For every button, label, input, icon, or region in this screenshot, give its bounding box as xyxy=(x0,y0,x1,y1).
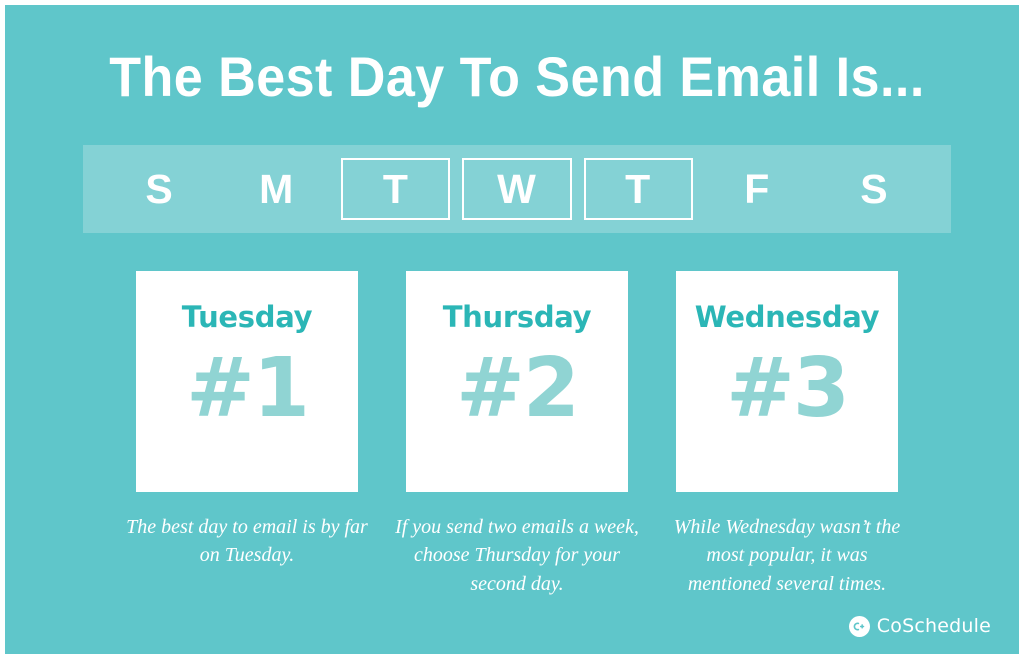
caption-list: The best day to email is by far on Tuesd… xyxy=(125,513,909,598)
day-letter: T xyxy=(383,169,409,210)
card-caption: While Wednesday wasn’t the most popular,… xyxy=(665,513,909,598)
week-strip: S M T W T F S xyxy=(83,145,951,233)
card-day-label: Tuesday xyxy=(182,303,312,332)
card-caption: If you send two emails a week, choose Th… xyxy=(395,513,639,598)
day-cell-sunday: S xyxy=(107,158,212,220)
day-letter: S xyxy=(145,169,173,210)
day-letter: F xyxy=(744,169,770,210)
day-cell-thursday: T xyxy=(584,158,693,220)
card-rank-label: #3 xyxy=(726,346,848,432)
card-rank-label: #1 xyxy=(186,346,308,432)
card-day-label: Wednesday xyxy=(695,303,880,332)
day-letter: M xyxy=(259,169,294,210)
day-cell-monday: M xyxy=(224,158,329,220)
card-day-label: Thursday xyxy=(443,303,592,332)
day-cell-friday: F xyxy=(705,158,810,220)
day-letter: T xyxy=(625,169,651,210)
day-cell-wednesday: W xyxy=(462,158,571,220)
card-rank-label: #2 xyxy=(456,346,578,432)
rank-card: Thursday #2 xyxy=(406,271,628,492)
day-cell-saturday: S xyxy=(822,158,927,220)
coschedule-wordmark: CoSchedule xyxy=(877,617,991,636)
rank-card-list: Tuesday #1 Thursday #2 Wednesday #3 xyxy=(136,271,898,492)
day-letter: S xyxy=(860,169,888,210)
coschedule-logo: CoSchedule xyxy=(849,616,991,637)
card-caption: The best day to email is by far on Tuesd… xyxy=(125,513,369,598)
rank-card: Tuesday #1 xyxy=(136,271,358,492)
coschedule-circle-icon xyxy=(849,616,870,637)
page-title: The Best Day To Send Email Is... xyxy=(41,49,993,105)
infographic-poster: The Best Day To Send Email Is... S M T W… xyxy=(0,0,1024,659)
day-letter: W xyxy=(497,169,537,210)
day-cell-tuesday: T xyxy=(341,158,450,220)
rank-card: Wednesday #3 xyxy=(676,271,898,492)
